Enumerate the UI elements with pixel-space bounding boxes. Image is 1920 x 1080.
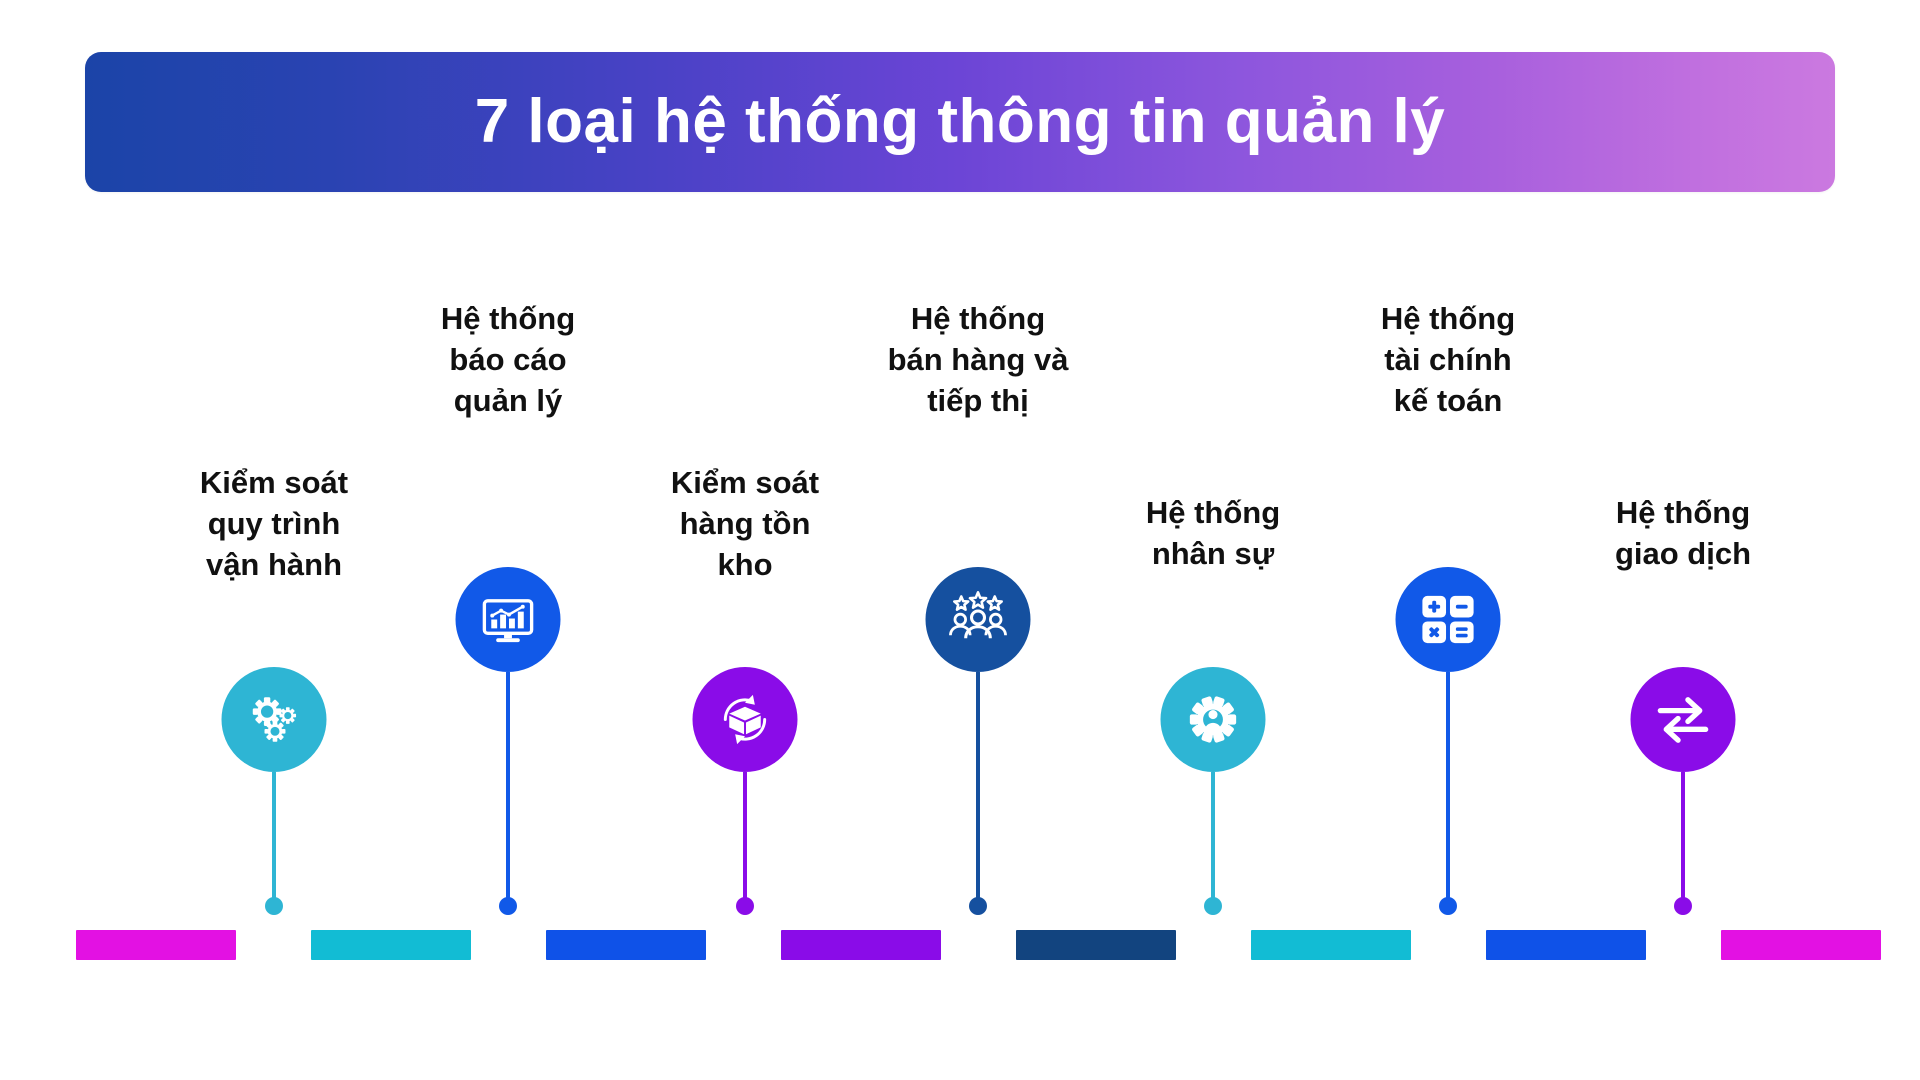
- calculator-icon: [1417, 588, 1480, 651]
- node-stem-finance-accounting-system: [1446, 672, 1450, 904]
- baseline-bar-2: [311, 930, 471, 960]
- node-label-operation-process-control: Kiểm soát quy trình vận hành: [124, 462, 424, 586]
- node-icon-circle-human-resources-system[interactable]: [1161, 667, 1266, 772]
- dashboard-monitor-icon: [477, 588, 540, 651]
- page-title: 7 loại hệ thống thông tin quản lý: [475, 89, 1446, 154]
- node-dot-transaction-system: [1674, 897, 1692, 915]
- baseline-bars: [0, 930, 1920, 966]
- people-stars-icon: [947, 588, 1010, 651]
- title-banner: 7 loại hệ thống thông tin quản lý: [85, 52, 1835, 192]
- node-label-inventory-control: Kiểm soát hàng tồn kho: [595, 462, 895, 586]
- node-icon-circle-operation-process-control[interactable]: [222, 667, 327, 772]
- node-dot-human-resources-system: [1204, 897, 1222, 915]
- node-icon-circle-transaction-system[interactable]: [1631, 667, 1736, 772]
- node-dot-operation-process-control: [265, 897, 283, 915]
- baseline-bar-6: [1251, 930, 1411, 960]
- baseline-bar-4: [781, 930, 941, 960]
- node-label-management-reporting-system: Hệ thống báo cáo quản lý: [358, 298, 658, 422]
- node-dot-management-reporting-system: [499, 897, 517, 915]
- node-stem-operation-process-control: [272, 772, 276, 904]
- node-dot-inventory-control: [736, 897, 754, 915]
- node-label-human-resources-system: Hệ thống nhân sự: [1063, 492, 1363, 574]
- baseline-bar-1: [76, 930, 236, 960]
- box-refresh-icon: [714, 688, 777, 751]
- node-label-sales-marketing-system: Hệ thống bán hàng và tiếp thị: [828, 298, 1128, 422]
- infographic-canvas: 7 loại hệ thống thông tin quản lý Kiểm s…: [0, 0, 1920, 1080]
- node-icon-circle-sales-marketing-system[interactable]: [926, 567, 1031, 672]
- node-label-transaction-system: Hệ thống giao dịch: [1533, 492, 1833, 574]
- baseline-bar-3: [546, 930, 706, 960]
- node-icon-circle-finance-accounting-system[interactable]: [1396, 567, 1501, 672]
- node-stem-sales-marketing-system: [976, 672, 980, 904]
- node-dot-finance-accounting-system: [1439, 897, 1457, 915]
- exchange-arrows-icon: [1652, 688, 1715, 751]
- baseline-bar-5: [1016, 930, 1176, 960]
- node-icon-circle-inventory-control[interactable]: [693, 667, 798, 772]
- baseline-bar-7: [1486, 930, 1646, 960]
- gears-icon: [243, 688, 306, 751]
- baseline-bar-8: [1721, 930, 1881, 960]
- node-stem-management-reporting-system: [506, 672, 510, 904]
- node-label-finance-accounting-system: Hệ thống tài chính kế toán: [1298, 298, 1598, 422]
- node-stem-human-resources-system: [1211, 772, 1215, 904]
- node-stem-inventory-control: [743, 772, 747, 904]
- node-dot-sales-marketing-system: [969, 897, 987, 915]
- node-icon-circle-management-reporting-system[interactable]: [456, 567, 561, 672]
- gear-person-icon: [1182, 688, 1245, 751]
- node-stem-transaction-system: [1681, 772, 1685, 904]
